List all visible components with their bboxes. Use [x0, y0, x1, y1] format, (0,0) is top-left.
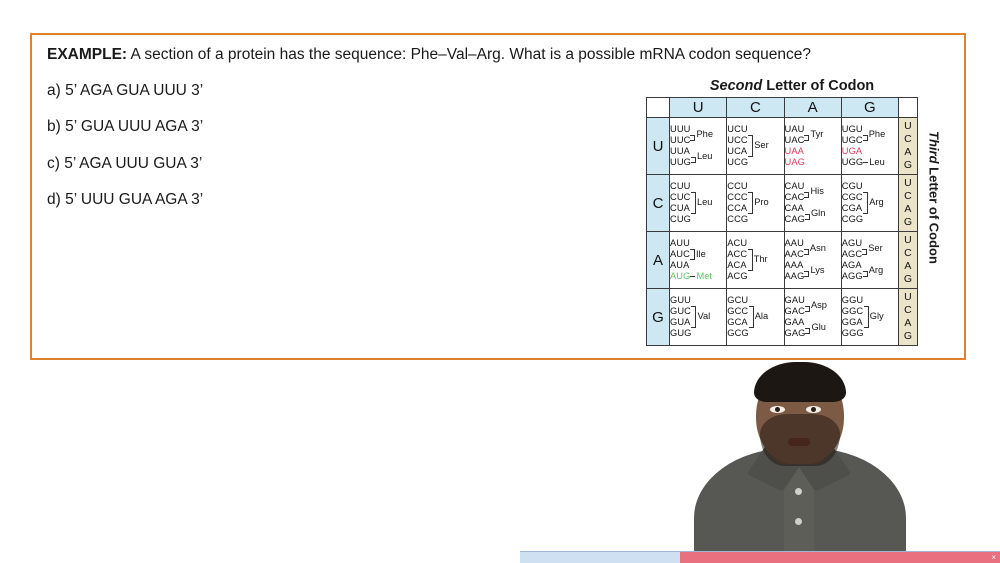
codon-cgu: CGU	[842, 181, 863, 192]
question-text: A section of a protein has the sequence:…	[127, 46, 811, 63]
codon-gga: GGA	[842, 317, 864, 328]
third-letter-a: A	[899, 260, 917, 273]
codon-cell-cc: CCUCCCCCACCGPro	[727, 175, 784, 232]
third-letter-column-g: UCAG	[899, 289, 918, 346]
col-head-c: C	[727, 98, 784, 118]
codon-table-body: UUUUUUCPheUUAUUGLeuUCUUCCUCAUCGSerUAUUAC…	[647, 118, 918, 346]
codon-gca: GCA	[727, 317, 748, 328]
codon-row-c: CCUUCUCCUACUGLeuCCUCCCCCACCGProCAUCACHis…	[647, 175, 918, 232]
codon-row-u: UUUUUUCPheUUAUUGLeuUCUUCCUCAUCGSerUAUUAC…	[647, 118, 918, 175]
codon-group: AAAAAGLys	[785, 260, 841, 282]
codon-agc: AGC	[842, 249, 862, 260]
codon-group: UAA	[785, 146, 841, 157]
codon-list: CUUCUCCUACUG	[670, 181, 691, 225]
third-letter-u: U	[899, 291, 917, 304]
answer-option-d[interactable]: d) 5’ UUU GUA AGA 3’	[47, 191, 647, 210]
close-icon: ×	[991, 552, 996, 563]
codon-list: UAUUAC	[785, 124, 805, 146]
third-letter-column-c: UCAG	[899, 175, 918, 232]
codon-group: AGAAGGArg	[842, 260, 898, 282]
codon-cell-ga: GAUGACAspGAAGAGGlu	[784, 289, 841, 346]
codon-uuu: UUU	[670, 124, 690, 135]
presenter-eye-left	[770, 406, 785, 413]
codon-cell-uu: UUUUUCPheUUAUUGLeu	[670, 118, 727, 175]
codon-group: UAG	[785, 157, 841, 168]
codon-cell-gg: GGUGGCGGAGGGGly	[841, 289, 898, 346]
question-block: EXAMPLE: A section of a protein has the …	[47, 46, 647, 228]
codon-list: UUUUUC	[670, 124, 690, 146]
codon-list: AAUAAC	[785, 238, 804, 260]
codon-acu: ACU	[727, 238, 747, 249]
codon-list: GUUGUCGUAGUG	[670, 295, 691, 339]
codon-group: AUUAUCAUAIle	[670, 238, 726, 271]
codon-group: GAUGACAsp	[785, 295, 841, 317]
third-letter-c: C	[899, 133, 917, 146]
codon-cell-gu: GUUGUCGUAGUGVal	[670, 289, 727, 346]
codon-list: AUUAUCAUA	[670, 238, 690, 271]
amino-acid-lys: Lys	[809, 266, 824, 275]
second-title-rest: Letter of Codon	[762, 78, 874, 94]
row-head-g: G	[647, 289, 670, 346]
codon-list: AUG	[670, 271, 690, 282]
third-letter-column-u: UCAG	[899, 118, 918, 175]
codon-group: UGA	[842, 146, 898, 157]
codon-list: GCUGCCGCAGCG	[727, 295, 748, 339]
amino-acid-gln: Gln	[810, 209, 825, 218]
codon-group: ACUACCACAACGThr	[727, 238, 783, 282]
codon-list: UAA	[785, 146, 804, 157]
codon-list: AGAAGG	[842, 260, 863, 282]
codon-auc: AUC	[670, 249, 690, 260]
amino-acid-leu: Leu	[868, 158, 885, 167]
genetic-code-table: Second Letter of Codon First Letter of C…	[622, 78, 944, 360]
codon-guc: GUC	[670, 306, 691, 317]
third-letter-u: U	[899, 234, 917, 247]
codon-list: CCUCCCCCACCG	[727, 181, 748, 225]
amino-acid-ile: Ile	[695, 250, 706, 259]
codon-aug: AUG	[670, 271, 690, 282]
codon-list: UCUUCCUCAUCG	[727, 124, 748, 168]
codon-gcu: GCU	[727, 295, 748, 306]
third-letter-g: G	[899, 273, 917, 286]
codon-cell-ua: UAUUACTyrUAAUAG	[784, 118, 841, 175]
codon-group: UAUUACTyr	[785, 124, 841, 146]
amino-acid-glu: Glu	[810, 323, 825, 332]
third-letter-u: U	[899, 120, 917, 133]
codon-acc: ACC	[727, 249, 747, 260]
col-head-g: G	[841, 98, 898, 118]
codon-ucg: UCG	[727, 157, 748, 168]
codon-cell-au: AUUAUCAUAIleAUGMet	[670, 232, 727, 289]
presenter-mouth	[788, 438, 810, 446]
codon-group: UGGLeu	[842, 157, 898, 168]
codon-group: GGUGGCGGAGGGGly	[842, 295, 898, 339]
codon-uua: UUA	[670, 146, 691, 157]
amino-acid-phe: Phe	[868, 130, 886, 139]
amino-acid-phe: Phe	[695, 130, 713, 139]
example-label: EXAMPLE:	[47, 46, 127, 63]
codon-ggg: GGG	[842, 328, 864, 339]
codon-gua: GUA	[670, 317, 691, 328]
codon-cag: CAG	[785, 214, 805, 225]
table-corner-blank	[647, 98, 670, 118]
codon-group: UCUUCCUCAUCGSer	[727, 124, 783, 168]
answer-option-c[interactable]: c) 5’ AGA UUU GUA 3’	[47, 155, 647, 174]
codon-cug: CUG	[670, 214, 691, 225]
codon-gug: GUG	[670, 328, 691, 339]
codon-list: GAAGAG	[785, 317, 806, 339]
codon-ggu: GGU	[842, 295, 864, 306]
presenter-shirt-button-2	[795, 518, 802, 525]
codon-ccc: CCC	[727, 192, 748, 203]
codon-group: GAAGAGGlu	[785, 317, 841, 339]
answer-option-a[interactable]: a) 5’ AGA GUA UUU 3’	[47, 82, 647, 101]
third-letter-c: C	[899, 247, 917, 260]
codon-aga: AGA	[842, 260, 863, 271]
codon-uaa: UAA	[785, 146, 804, 157]
codon-aca: ACA	[727, 260, 747, 271]
codon-guu: GUU	[670, 295, 691, 306]
codon-group: CAACAGGln	[785, 203, 841, 225]
codon-auu: AUU	[670, 238, 690, 249]
amino-acid-leu: Leu	[696, 198, 713, 207]
amino-acid-pro: Pro	[753, 198, 768, 207]
amino-acid-thr: Thr	[753, 255, 768, 264]
codon-cuu: CUU	[670, 181, 691, 192]
codon-acg: ACG	[727, 271, 747, 282]
presenter-shirt-button-1	[795, 488, 802, 495]
table-corner-blank-right	[899, 98, 918, 118]
bottom-window-close-button[interactable]: ×	[946, 552, 1000, 563]
codon-group: UUUUUCPhe	[670, 124, 726, 146]
codon-group: CCUCCCCCACCGPro	[727, 181, 783, 225]
third-letter-a: A	[899, 317, 917, 330]
third-letter-c: C	[899, 304, 917, 317]
third-title-italic: Third	[927, 131, 942, 164]
codon-ggc: GGC	[842, 306, 864, 317]
codon-ugc: UGC	[842, 135, 863, 146]
amino-acid-asn: Asn	[809, 244, 826, 253]
codon-cgc: CGC	[842, 192, 863, 203]
amino-acid-arg: Arg	[868, 266, 883, 275]
codon-uag: UAG	[785, 157, 805, 168]
codon-list: UGA	[842, 146, 862, 157]
codon-list: UUAUUG	[670, 146, 691, 168]
amino-acid-arg: Arg	[868, 198, 883, 207]
codon-row-a: AAUUAUCAUAIleAUGMetACUACCACAACGThrAAUAAC…	[647, 232, 918, 289]
second-title-italic: Second	[710, 78, 762, 94]
codon-group: CAUCACHis	[785, 181, 841, 203]
codon-cuc: CUC	[670, 192, 691, 203]
codon-uug: UUG	[670, 157, 691, 168]
presenter-eye-right	[806, 406, 821, 413]
codon-aua: AUA	[670, 260, 690, 271]
third-title-rest: Letter of Codon	[927, 164, 942, 264]
second-letter-of-codon-title: Second Letter of Codon	[670, 78, 914, 94]
codon-ucc: UCC	[727, 135, 748, 146]
codon-uca: UCA	[727, 146, 748, 157]
codon-uuc: UUC	[670, 135, 690, 146]
amino-acid-tyr: Tyr	[809, 130, 823, 139]
codon-uac: UAC	[785, 135, 805, 146]
codon-list: CAACAG	[785, 203, 805, 225]
amino-acid-leu: Leu	[696, 152, 713, 161]
codon-cga: CGA	[842, 203, 863, 214]
third-letter-g: G	[899, 330, 917, 343]
col-head-u: U	[670, 98, 727, 118]
col-head-a: A	[784, 98, 841, 118]
third-letter-u: U	[899, 177, 917, 190]
third-letter-g: G	[899, 216, 917, 229]
codon-gag: GAG	[785, 328, 806, 339]
codon-cell-ag: AGUAGCSerAGAAGGArg	[841, 232, 898, 289]
amino-acid-val: Val	[696, 312, 710, 321]
codon-group: UGUUGCPhe	[842, 124, 898, 146]
codon-ucu: UCU	[727, 124, 748, 135]
codon-list: CGUCGCCGACGG	[842, 181, 863, 225]
amino-acid-gly: Gly	[869, 312, 884, 321]
codon-list: CAUCAC	[785, 181, 805, 203]
codon-list: ACUACCACAACG	[727, 238, 747, 282]
codon-gaa: GAA	[785, 317, 806, 328]
third-letter-c: C	[899, 190, 917, 203]
codon-list: GAUGAC	[785, 295, 805, 317]
codon-agu: AGU	[842, 238, 862, 249]
codon-ccg: CCG	[727, 214, 748, 225]
codon-cac: CAC	[785, 192, 805, 203]
codon-list: AGUAGC	[842, 238, 862, 260]
codon-caa: CAA	[785, 203, 805, 214]
codon-group: UUAUUGLeu	[670, 146, 726, 168]
bottom-window-titlebar[interactable]: ×	[520, 551, 1000, 563]
codon-cell-gc: GCUGCCGCAGCGAla	[727, 289, 784, 346]
answer-option-b[interactable]: b) 5’ GUA UUU AGA 3’	[47, 118, 647, 137]
codon-agg: AGG	[842, 271, 863, 282]
codon-uau: UAU	[785, 124, 805, 135]
codon-table-header-row: U C A G	[647, 98, 918, 118]
amino-acid-met: Met	[695, 272, 712, 281]
codon-group: GUUGUCGUAGUGVal	[670, 295, 726, 339]
codon-grid: U C A G UUUUUUCPheUUAUUGLeuUCUUCCUCAUCGS…	[646, 97, 918, 346]
amino-acid-his: His	[809, 187, 823, 196]
codon-gac: GAC	[785, 306, 805, 317]
amino-acid-ala: Ala	[754, 312, 768, 321]
amino-acid-ser: Ser	[867, 244, 882, 253]
codon-row-g: GGUUGUCGUAGUGValGCUGCCGCAGCGAlaGAUGACAsp…	[647, 289, 918, 346]
codon-cua: CUA	[670, 203, 691, 214]
codon-cell-cg: CGUCGCCGACGGArg	[841, 175, 898, 232]
codon-group: CGUCGCCGACGGArg	[842, 181, 898, 225]
codon-aac: AAC	[785, 249, 804, 260]
codon-cell-uc: UCUUCCUCAUCGSer	[727, 118, 784, 175]
codon-cell-ac: ACUACCACAACGThr	[727, 232, 784, 289]
question-line: EXAMPLE: A section of a protein has the …	[47, 46, 647, 65]
third-letter-of-codon-title: Third Letter of Codon	[927, 108, 942, 288]
codon-group: AUGMet	[670, 271, 726, 282]
presenter-video-overlay	[694, 362, 906, 562]
codon-list: UGUUGC	[842, 124, 863, 146]
codon-group: GCUGCCGCAGCGAla	[727, 295, 783, 339]
codon-list: AAAAAG	[785, 260, 805, 282]
codon-gau: GAU	[785, 295, 805, 306]
third-letter-column-a: UCAG	[899, 232, 918, 289]
codon-cell-aa: AAUAACAsnAAAAAGLys	[784, 232, 841, 289]
codon-list: UGG	[842, 157, 863, 168]
codon-aaa: AAA	[785, 260, 805, 271]
third-letter-a: A	[899, 146, 917, 159]
codon-list: GGUGGCGGAGGG	[842, 295, 864, 339]
codon-cgg: CGG	[842, 214, 863, 225]
presenter-hair	[754, 362, 846, 402]
codon-group: AAUAACAsn	[785, 238, 841, 260]
third-letter-a: A	[899, 203, 917, 216]
codon-group: AGUAGCSer	[842, 238, 898, 260]
amino-acid-ser: Ser	[753, 141, 768, 150]
codon-cell-cu: CUUCUCCUACUGLeu	[670, 175, 727, 232]
codon-table-element: U C A G UUUUUUCPheUUAUUGLeuUCUUCCUCAUCGS…	[646, 97, 918, 346]
codon-aau: AAU	[785, 238, 804, 249]
codon-uga: UGA	[842, 146, 862, 157]
codon-group: CUUCUCCUACUGLeu	[670, 181, 726, 225]
codon-cca: CCA	[727, 203, 748, 214]
codon-gcg: GCG	[727, 328, 748, 339]
codon-cell-ca: CAUCACHisCAACAGGln	[784, 175, 841, 232]
codon-cell-ug: UGUUGCPheUGAUGGLeu	[841, 118, 898, 175]
row-head-a: A	[647, 232, 670, 289]
codon-list: UAG	[785, 157, 805, 168]
amino-acid-asp: Asp	[810, 301, 827, 310]
bottom-strip-accent-bar	[680, 552, 980, 563]
codon-cau: CAU	[785, 181, 805, 192]
row-head-c: C	[647, 175, 670, 232]
third-letter-g: G	[899, 159, 917, 172]
codon-ugg: UGG	[842, 157, 863, 168]
row-head-u: U	[647, 118, 670, 175]
codon-ccu: CCU	[727, 181, 748, 192]
codon-aag: AAG	[785, 271, 805, 282]
codon-gcc: GCC	[727, 306, 748, 317]
codon-ugu: UGU	[842, 124, 863, 135]
